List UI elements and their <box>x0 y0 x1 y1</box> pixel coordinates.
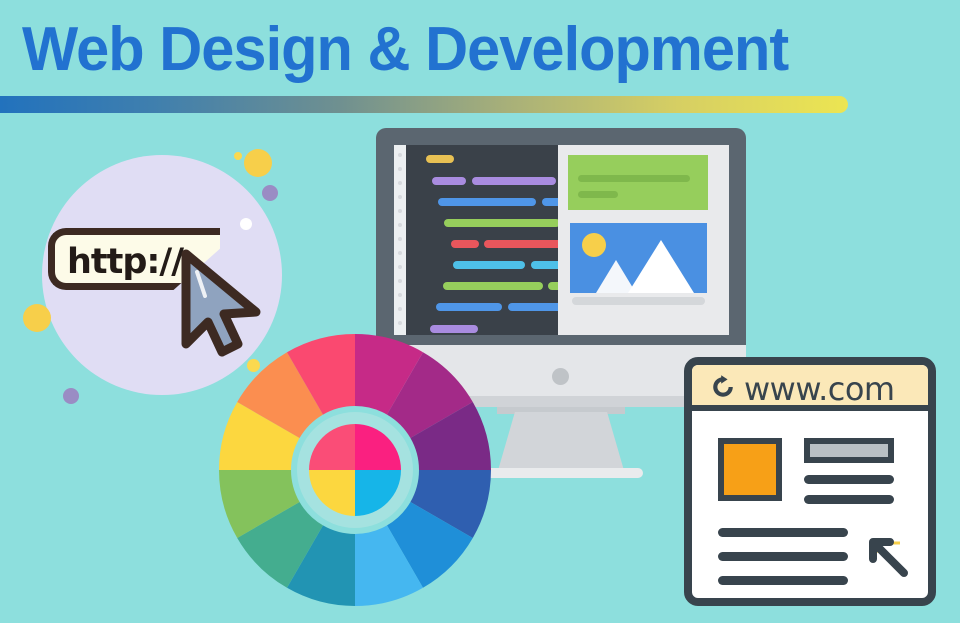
browser-url-text: www.com <box>744 369 895 409</box>
gutter-dot <box>398 251 402 255</box>
code-gutter <box>394 145 406 335</box>
preview-footer-bar <box>572 297 705 305</box>
content-heading-bar <box>804 438 894 463</box>
code-line-3 <box>472 177 556 185</box>
gutter-dot <box>398 265 402 269</box>
gutter-dot <box>398 237 402 241</box>
code-editor-pane <box>406 145 558 335</box>
decor-dot-yellow-small-top <box>234 152 242 160</box>
sun-icon <box>582 233 606 257</box>
gradient-divider-bar <box>0 96 848 113</box>
color-wheel[interactable] <box>219 334 491 606</box>
gutter-dot <box>398 321 402 325</box>
monitor-screen <box>394 145 729 335</box>
decor-dot-yellow-large-top <box>244 149 272 177</box>
gutter-dot <box>398 181 402 185</box>
code-line-2 <box>432 177 466 185</box>
monitor-stand-base <box>479 468 643 478</box>
preview-image-placeholder <box>570 223 707 293</box>
code-line-15 <box>430 325 478 333</box>
gutter-dot <box>398 209 402 213</box>
gutter-dot <box>398 293 402 297</box>
decor-dot-purple-top <box>262 185 278 201</box>
decor-dot-yellow-large-left <box>23 304 51 332</box>
monitor-stand <box>497 412 625 474</box>
decor-dot-purple-bottom <box>63 388 79 404</box>
gutter-dot <box>398 223 402 227</box>
monitor-power-button[interactable] <box>552 368 569 385</box>
code-line-11 <box>443 282 543 290</box>
preview-hero-line-1 <box>578 175 690 182</box>
content-line-1 <box>804 475 894 484</box>
content-line-3 <box>718 528 848 537</box>
content-line-4 <box>718 552 848 561</box>
gutter-dot <box>398 307 402 311</box>
gutter-dot <box>398 195 402 199</box>
code-line-13 <box>436 303 502 311</box>
page-title: Web Design & Development <box>22 14 788 86</box>
decor-dot-yellow-near-wheel <box>247 359 260 372</box>
illustration-canvas: Web Design & Development http:// <box>0 0 960 623</box>
code-line-9 <box>453 261 525 269</box>
content-line-5 <box>718 576 848 585</box>
url-protocol-text: http:// <box>67 240 183 284</box>
reload-icon[interactable] <box>710 374 736 400</box>
content-thumbnail <box>718 438 782 501</box>
code-line-14 <box>508 303 562 311</box>
browser-title-bar: www.com <box>692 365 928 411</box>
preview-hero-line-2 <box>578 191 618 198</box>
decor-dot-white <box>240 218 252 230</box>
gutter-dot <box>398 279 402 283</box>
preview-hero-block <box>568 155 708 210</box>
code-line-1 <box>426 155 454 163</box>
web-preview-pane <box>558 145 729 335</box>
code-line-6 <box>444 219 560 227</box>
code-line-4 <box>438 198 536 206</box>
arrow-cursor-icon <box>864 533 912 581</box>
content-line-2 <box>804 495 894 504</box>
code-line-7 <box>451 240 479 248</box>
code-line-8 <box>484 240 562 248</box>
mountain-large-shape <box>628 240 694 293</box>
gutter-dot <box>398 167 402 171</box>
browser-window[interactable]: www.com <box>684 357 936 606</box>
gutter-dot <box>398 153 402 157</box>
